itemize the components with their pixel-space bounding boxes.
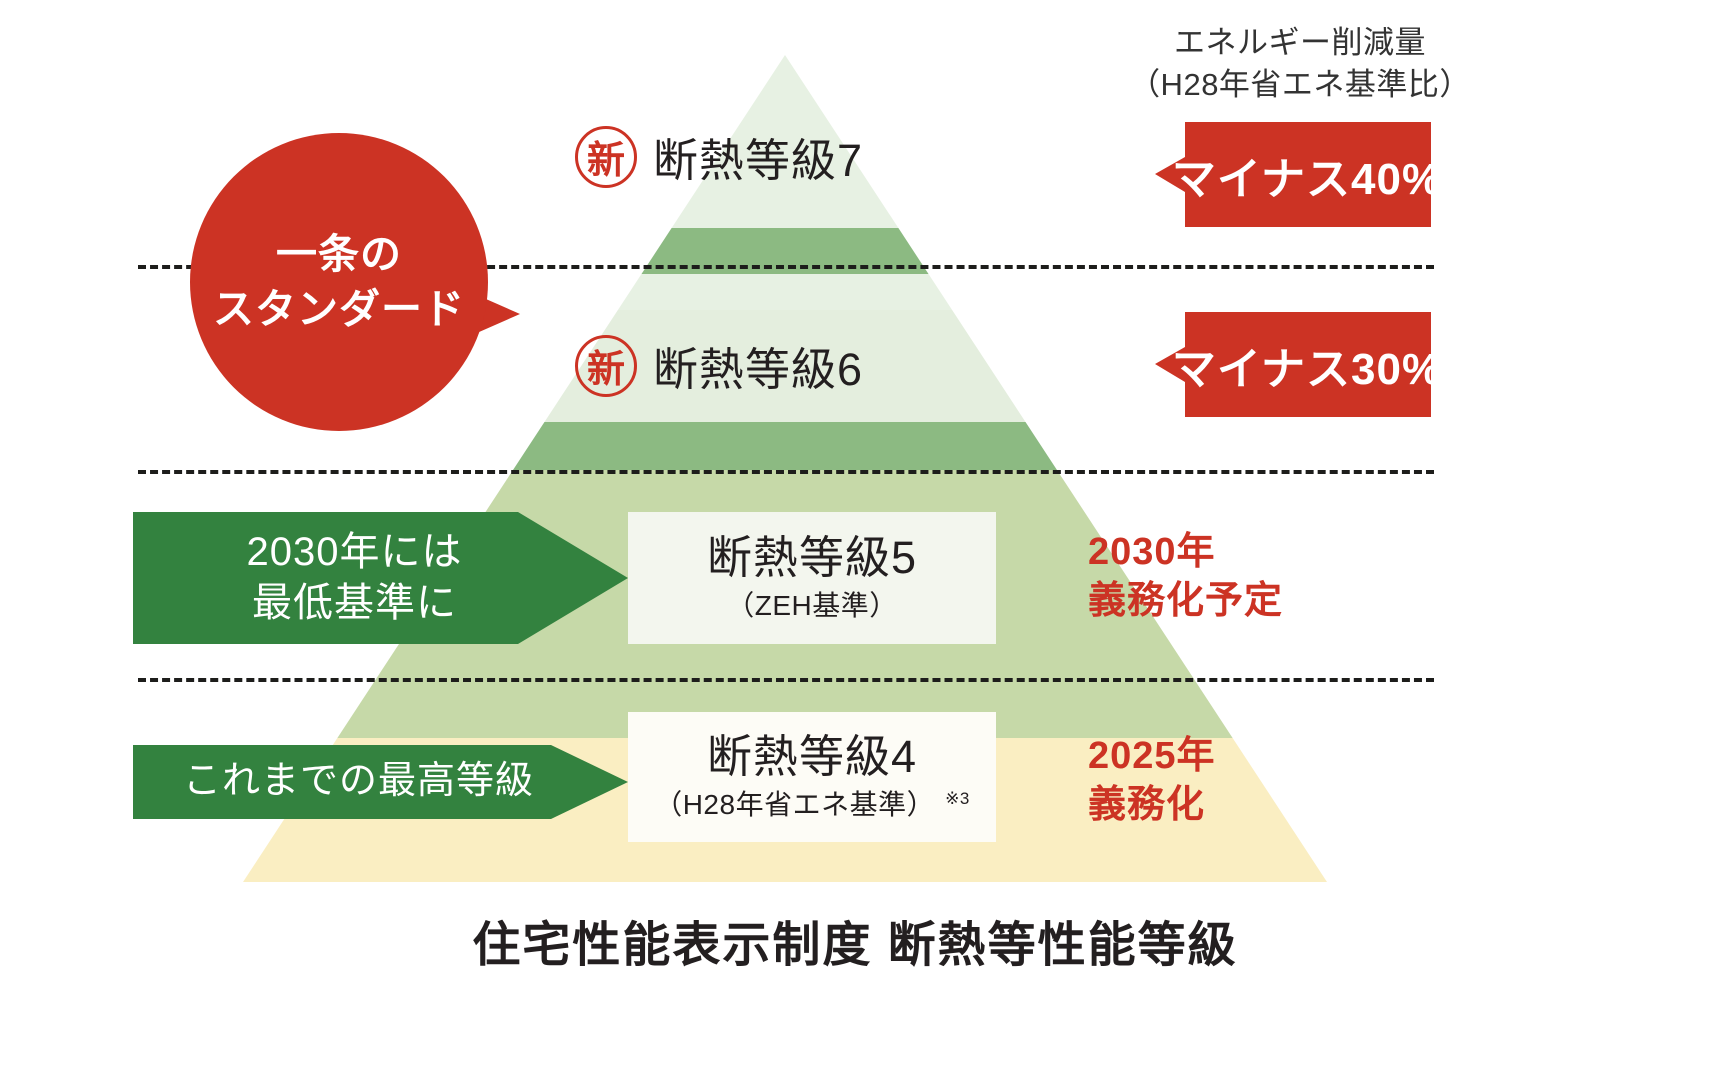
- divider-dashed-2: [138, 470, 1434, 474]
- mandate-note-2030: 2030年 義務化予定: [1088, 528, 1283, 627]
- infographic-card: エネルギー削減量 （H28年省エネ基準比） 一条の スタンダード 新 断熱等級7…: [0, 0, 1710, 1080]
- energy-reduction-label-40: マイナス40%: [1172, 143, 1442, 207]
- footnote-marker: ※3: [945, 789, 970, 808]
- energy-reduction-label-30: マイナス30%: [1172, 333, 1442, 397]
- circle-callout-line-2: スタンダード: [213, 282, 465, 337]
- circle-callout-line-1: 一条の: [276, 227, 402, 282]
- grade-sublabel-5: （ZEH基準）: [726, 589, 898, 623]
- header-line-2: （H28年省エネ基準比）: [1070, 64, 1530, 106]
- banner-2030-line-2: 最低基準に: [247, 578, 463, 629]
- grade-label-6: 断熱等級6: [653, 333, 863, 398]
- energy-reduction-box-30: マイナス30%: [1155, 312, 1431, 417]
- mandate-note-2030-line-2: 義務化予定: [1088, 577, 1283, 626]
- banner-previous-inner: これまでの最高等級: [183, 761, 534, 803]
- grade-row-7: 新 断熱等級7: [575, 124, 863, 189]
- chart-caption: 住宅性能表示制度 断熱等性能等級: [0, 905, 1710, 975]
- mandate-note-2030-line-1: 2030年: [1088, 528, 1283, 577]
- grade-row-6: 新 断熱等級6: [575, 333, 863, 398]
- mandate-note-2025-line-1: 2025年: [1088, 732, 1216, 781]
- mandate-note-2025: 2025年 義務化: [1088, 732, 1216, 831]
- circle-callout-ichijo-standard: 一条の スタンダード: [190, 133, 488, 431]
- header-line-1: エネルギー削減量: [1070, 22, 1530, 64]
- energy-reduction-header: エネルギー削減量 （H28年省エネ基準比）: [1070, 22, 1530, 106]
- grade-box-4: 断熱等級4 （H28年省エネ基準）※3: [628, 712, 996, 842]
- energy-reduction-box-40: マイナス40%: [1155, 122, 1431, 227]
- grade-label-5: 断熱等級5: [707, 534, 917, 581]
- grade-label-7: 断熱等級7: [653, 124, 863, 189]
- grade-sublabel-4-text: （H28年省エネ基準）: [654, 789, 935, 820]
- divider-dashed-3: [138, 678, 1434, 682]
- banner-2030-line-1: 2030年には: [247, 527, 463, 578]
- banner-2030-inner: 2030年には 最低基準に: [247, 527, 463, 629]
- new-badge-icon: 新: [575, 335, 637, 397]
- mandate-note-2025-line-2: 義務化: [1088, 781, 1216, 830]
- band-stripe-2: [0, 422, 1710, 470]
- banner-previous-line-1: これまでの最高等級: [183, 761, 534, 803]
- grade-sublabel-4: （H28年省エネ基準）※3: [654, 788, 970, 822]
- grade-label-4: 断熱等級4: [707, 733, 917, 780]
- grade-box-5: 断熱等級5 （ZEH基準）: [628, 512, 996, 644]
- banner-previous-highest-grade: これまでの最高等級: [133, 745, 628, 819]
- new-badge-icon: 新: [575, 126, 637, 188]
